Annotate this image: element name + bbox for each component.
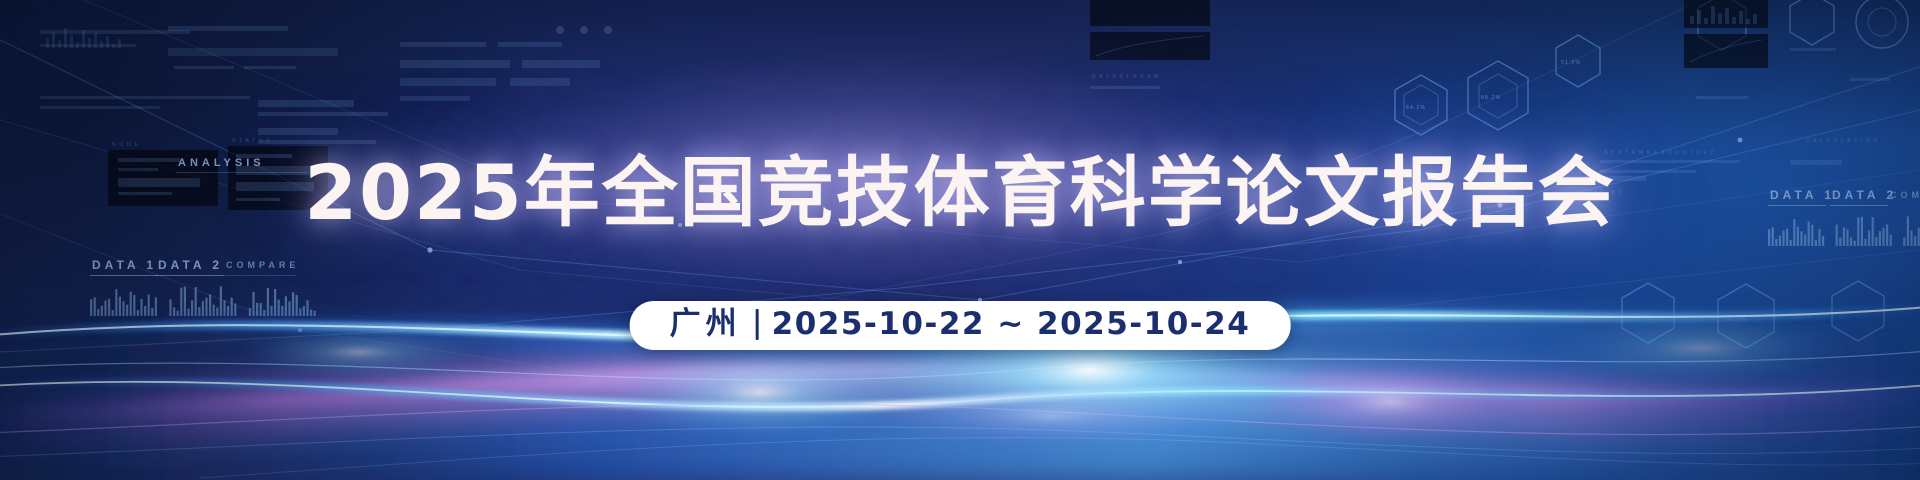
svg-text:N O D E: N O D E: [112, 142, 139, 148]
svg-text:91.5%: 91.5%: [1561, 60, 1581, 66]
page-title: 2025年全国竞技体育科学论文报告会: [0, 155, 1920, 231]
wave-hotspot-far-right: [1550, 312, 1850, 384]
svg-text:S T A T U S: S T A T U S: [232, 138, 271, 144]
svg-text:64.2%: 64.2%: [1406, 105, 1426, 111]
wave-hotspot-magenta: [870, 382, 1230, 450]
hud-center-top: [400, 26, 612, 101]
wave-hotspot-left: [610, 344, 910, 440]
event-city: 广州: [670, 308, 752, 341]
pill-separator: [756, 309, 759, 340]
hud-left-panels: [36, 18, 250, 109]
event-date-range: 2025-10-22 ~ 2025-10-24: [772, 308, 1251, 341]
svg-text:D A T A S T R E A M: D A T A S T R E A M: [1092, 74, 1159, 80]
conference-banner: S T A T U S N O D E 64.2% 88.: [0, 0, 1920, 480]
hud-top-center-chart: D A T A S T R E A M: [1090, 0, 1210, 89]
svg-text:C A L C U L A T I N G: C A L C U L A T I N G: [1806, 138, 1878, 144]
event-details-badge: 广州 2025-10-22 ~ 2025-10-24: [630, 301, 1291, 350]
wave-hotspot-right: [1250, 358, 1530, 446]
svg-text:88.2%: 88.2%: [1481, 95, 1501, 101]
light-wave-graphic: [0, 220, 1920, 480]
wave-hotspot-far-left: [240, 326, 480, 378]
